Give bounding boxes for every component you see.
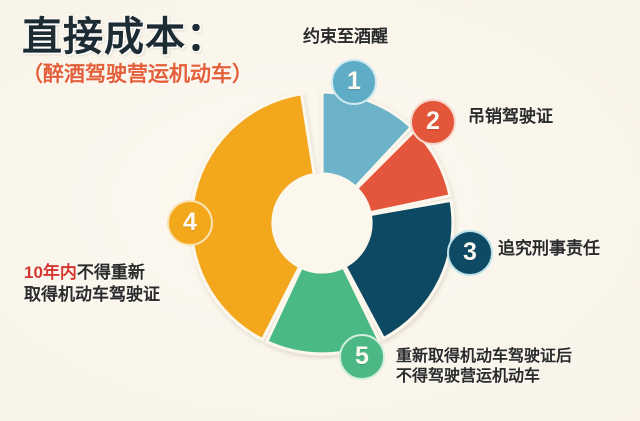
badge-number: 4 [183,210,197,235]
segment-label-4: 10年内不得重新 取得机动车驾驶证 [24,262,160,306]
segment-badge-3[interactable]: 3 [447,230,493,276]
infographic-poster: 直接成本： （醉酒驾驶营运机动车） 1 2 3 4 5 约束至酒醒 吊销驾驶证 … [0,0,640,421]
segment-badge-4[interactable]: 4 [167,200,213,246]
segment-label-5: 重新取得机动车驾驶证后 不得驾驶营运机动车 [396,347,572,388]
donut-hole [273,174,371,272]
badge-number: 2 [426,109,440,134]
segment-badge-1[interactable]: 1 [331,59,377,105]
badge-number: 5 [355,344,369,369]
segment-label-5-line2: 不得驾驶营运机动车 [396,367,572,387]
badge-number: 1 [347,69,361,94]
segment-label-4-line1: 10年内不得重新 [24,262,160,284]
segment-label-5-line1: 重新取得机动车驾驶证后 [396,347,572,367]
segment-badge-5[interactable]: 5 [339,334,385,380]
segment-label-2: 吊销驾驶证 [468,106,553,128]
segment-label-4-emphasis: 10年内 [24,263,77,282]
segment-badge-2[interactable]: 2 [410,99,456,145]
segment-label-1: 约束至酒醒 [303,26,388,48]
segment-label-4-line2: 取得机动车驾驶证 [24,284,160,306]
segment-label-2-text: 吊销驾驶证 [468,106,553,128]
segment-label-1-text: 约束至酒醒 [303,26,388,48]
segment-label-3: 追究刑事责任 [498,238,600,260]
segment-label-4-rest: 不得重新 [77,263,145,282]
badge-number: 3 [463,240,477,265]
segment-label-3-text: 追究刑事责任 [498,238,600,260]
